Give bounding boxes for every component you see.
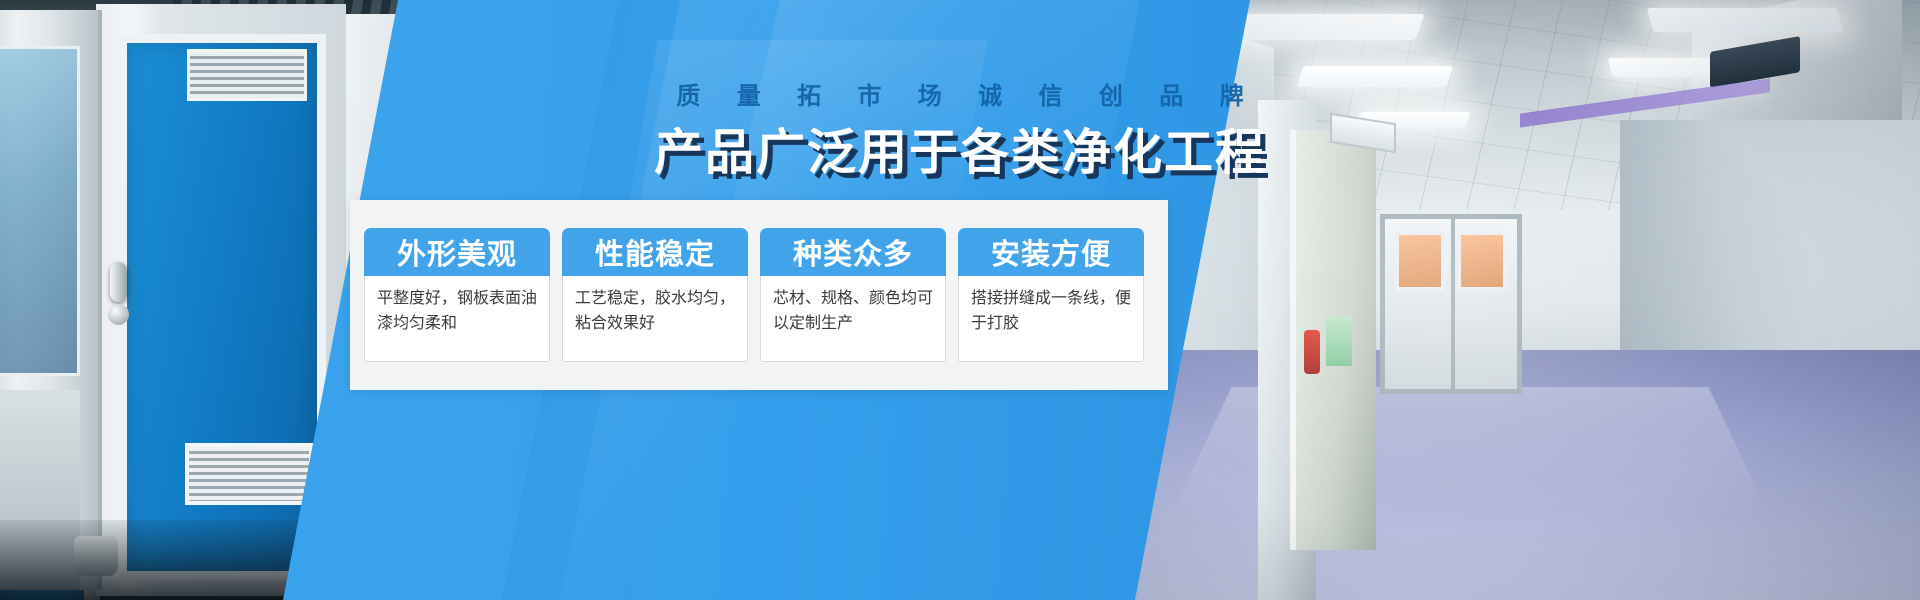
feature-card-title: 安装方便 [958, 228, 1144, 276]
promo-banner: 质 量 拓 市 场 诚 信 创 品 牌 产品广泛用于各类净化工程 外形美观 平整… [0, 0, 1920, 600]
feature-card-title: 种类众多 [760, 228, 946, 276]
feature-card-description: 搭接拼缝成一条线，便于打胶 [958, 276, 1144, 362]
feature-card: 性能稳定 工艺稳定，胶水均匀，粘合效果好 [562, 228, 748, 362]
banner-headline: 产品广泛用于各类净化工程 [0, 113, 1920, 184]
feature-card: 外形美观 平整度好，钢板表面油漆均匀柔和 [364, 228, 550, 362]
feature-card: 种类众多 芯材、规格、颜色均可以定制生产 [760, 228, 946, 362]
banner-subtitle: 质 量 拓 市 场 诚 信 创 品 牌 [0, 76, 1920, 111]
feature-card-description: 工艺稳定，胶水均匀，粘合效果好 [562, 276, 748, 362]
feature-card-description: 平整度好，钢板表面油漆均匀柔和 [364, 276, 550, 362]
feature-card-description: 芯材、规格、颜色均可以定制生产 [760, 276, 946, 362]
feature-card: 安装方便 搭接拼缝成一条线，便于打胶 [958, 228, 1144, 362]
door-handle [110, 262, 127, 302]
feature-card-title: 性能稳定 [562, 228, 748, 276]
feature-card-panel: 外形美观 平整度好，钢板表面油漆均匀柔和 性能稳定 工艺稳定，胶水均匀，粘合效果… [350, 200, 1168, 390]
door-lock [108, 304, 129, 325]
door-vent-bottom [185, 443, 313, 505]
feature-card-title: 外形美观 [364, 228, 550, 276]
